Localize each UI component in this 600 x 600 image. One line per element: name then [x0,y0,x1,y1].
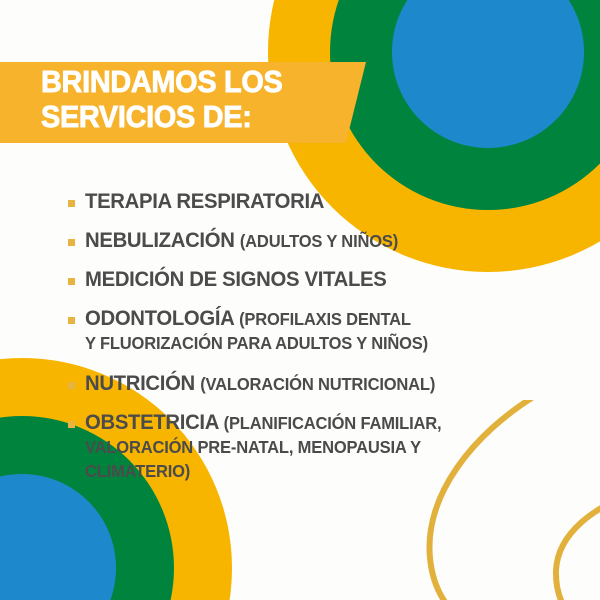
list-item: NUTRICIÓN (VALORACIÓN NUTRICIONAL) [68,372,573,396]
service-main: TERAPIA RESPIRATORIA [85,189,324,213]
list-item: MEDICIÓN DE SIGNOS VITALES [68,268,573,292]
service-sub: (PLANIFICACIÓN FAMILIAR, [224,413,442,433]
service-sub: Y FLUORIZACIÓN PARA ADULTOS Y NIÑOS) [85,333,428,353]
service-main: ODONTOLOGÍA [85,306,239,330]
service-line: ODONTOLOGÍA (PROFILAXIS DENTAL [85,307,546,331]
list-item: OBSTETRICIA (PLANIFICACIÓN FAMILIAR, VAL… [68,411,573,483]
bullet-square-icon [68,317,75,324]
service-line: CLIMATERIO) [85,459,546,483]
service-line: OBSTETRICIA (PLANIFICACIÓN FAMILIAR, [85,411,546,435]
service-line: TERAPIA RESPIRATORIA [85,190,546,214]
service-line: VALORACIÓN PRE-NATAL, MENOPAUSIA Y [85,435,546,459]
ring-inner-blue [392,0,584,148]
service-main: OBSTETRICIA [85,410,224,434]
bullet-square-icon [68,382,75,389]
bullet-square-icon [68,278,75,285]
list-item: ODONTOLOGÍA (PROFILAXIS DENTAL Y FLUORIZ… [68,307,573,355]
service-sub: CLIMATERIO) [85,461,190,481]
list-item: NEBULIZACIÓN (ADULTOS Y NIÑOS) [68,229,573,253]
service-sub: (PROFILAXIS DENTAL [239,309,411,329]
service-line: NUTRICIÓN (VALORACIÓN NUTRICIONAL) [85,372,546,396]
service-main: MEDICIÓN DE SIGNOS VITALES [85,267,386,291]
service-main: NEBULIZACIÓN [85,228,240,252]
bullet-square-icon [68,200,75,207]
service-sub: VALORACIÓN PRE-NATAL, MENOPAUSIA Y [85,437,421,457]
service-line: MEDICIÓN DE SIGNOS VITALES [85,268,546,292]
banner-line-1: BRINDAMOS LOS [41,64,348,99]
bullet-square-icon [68,239,75,246]
service-sub: (VALORACIÓN NUTRICIONAL) [200,374,435,394]
bullet-square-icon [68,421,75,428]
ring-middle-green [330,0,600,210]
banner-line-2: SERVICIOS DE: [41,99,348,134]
header-banner-title: BRINDAMOS LOS SERVICIOS DE: [41,64,348,134]
service-main: NUTRICIÓN [85,371,200,395]
service-sub: (ADULTOS Y NIÑOS) [240,231,398,251]
services-list: TERAPIA RESPIRATORIA NEBULIZACIÓN (ADULT… [68,190,573,500]
poster-canvas: BRINDAMOS LOS SERVICIOS DE: TERAPIA RESP… [0,0,600,600]
service-line: Y FLUORIZACIÓN PARA ADULTOS Y NIÑOS) [85,331,546,355]
service-line: NEBULIZACIÓN (ADULTOS Y NIÑOS) [85,229,546,253]
list-item: TERAPIA RESPIRATORIA [68,190,573,214]
